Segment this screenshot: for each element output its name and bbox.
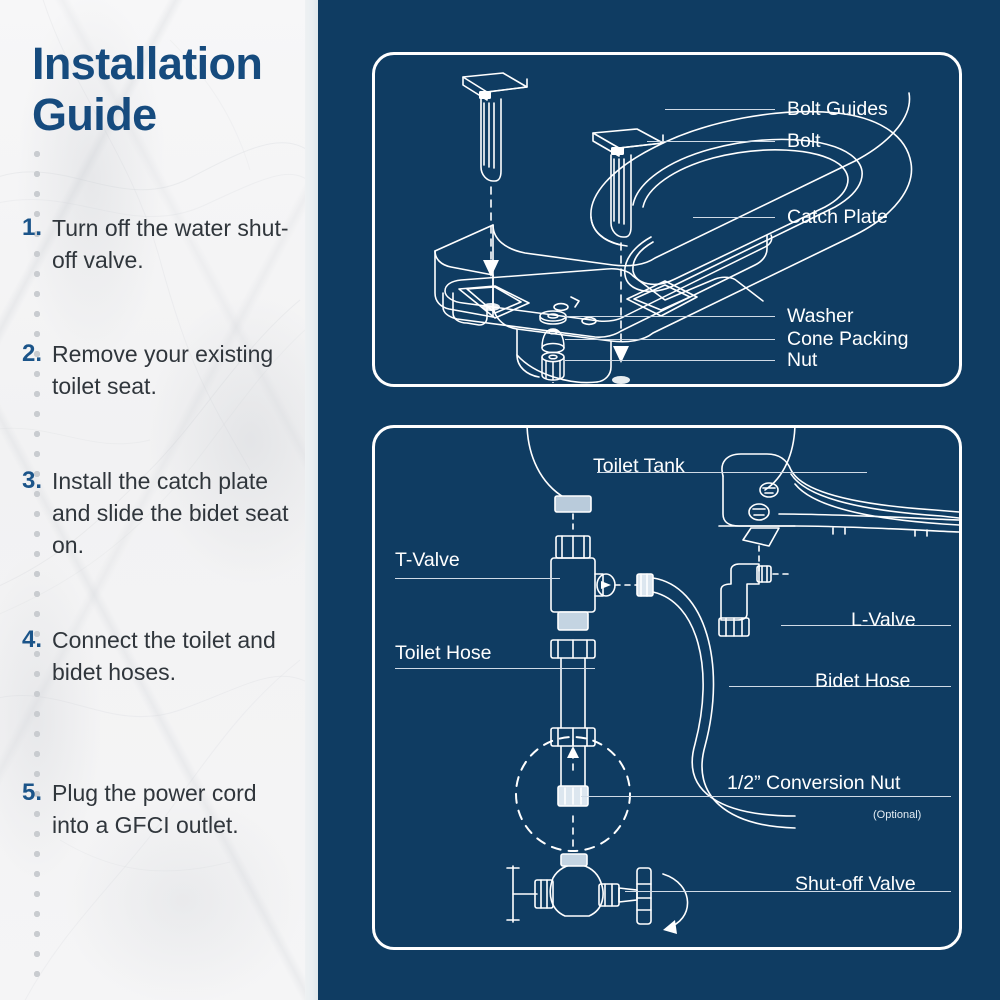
- step-number: 3.: [22, 465, 52, 497]
- leader-catch-plate: [693, 217, 775, 218]
- step-text: Connect the toilet and bidet hoses.: [52, 624, 292, 688]
- label-toilet-tank: Toilet Tank: [593, 454, 685, 478]
- label-bidet-hose: Bidet Hose: [815, 669, 910, 693]
- step-item-3: 3. Install the catch plate and slide the…: [22, 465, 297, 561]
- label-t-valve: T-Valve: [395, 548, 460, 572]
- step-number: 4.: [22, 624, 52, 656]
- leader-bolt: [647, 141, 775, 142]
- catch-plate-diagram-panel: Bolt Guides Bolt Catch Plate Washer Cone…: [372, 52, 962, 387]
- step-text: Install the catch plate and slide the bi…: [52, 465, 292, 561]
- step-text: Remove your existing toilet seat.: [52, 338, 292, 402]
- label-toilet-hose: Toilet Hose: [395, 641, 491, 665]
- panel-divider: [305, 0, 318, 1000]
- water-hookup-diagram-panel: Toilet Tank T-Valve L-Valve Toilet Hose …: [372, 425, 962, 950]
- page-title-line2: Guide: [32, 89, 302, 140]
- label-catch-plate: Catch Plate: [787, 205, 888, 229]
- label-conversion-nut: 1/2” Conversion Nut: [727, 771, 900, 795]
- step-number: 5.: [22, 777, 52, 809]
- marble-sidebar: Installation Guide 1. Turn off the water…: [0, 0, 305, 1000]
- label-nut: Nut: [787, 348, 817, 372]
- step-number: 1.: [22, 212, 52, 244]
- leader-conversion-nut: [581, 796, 951, 797]
- label-washer: Washer: [787, 304, 853, 328]
- leader-washer: [565, 316, 775, 317]
- page-title-line1: Installation: [32, 38, 302, 89]
- label-bolt: Bolt: [787, 129, 821, 153]
- leader-bolt-guides: [665, 109, 775, 110]
- label-shut-off-valve: Shut-off Valve: [795, 872, 916, 896]
- step-item-5: 5. Plug the power cord into a GFCI outle…: [22, 777, 297, 841]
- leader-nut: [565, 360, 775, 361]
- step-item-4: 4. Connect the toilet and bidet hoses.: [22, 624, 297, 688]
- step-text: Plug the power cord into a GFCI outlet.: [52, 777, 292, 841]
- step-number: 2.: [22, 338, 52, 370]
- label-l-valve: L-Valve: [851, 608, 916, 632]
- leader-toilet-hose: [395, 668, 595, 669]
- leader-t-valve: [395, 578, 560, 579]
- page-title: Installation Guide: [32, 38, 302, 140]
- label-bolt-guides: Bolt Guides: [787, 97, 888, 121]
- step-item-1: 1. Turn off the water shut-off valve.: [22, 212, 297, 276]
- installation-guide-page: Installation Guide 1. Turn off the water…: [0, 0, 1000, 1000]
- label-conversion-nut-note: (Optional): [873, 803, 921, 827]
- step-text: Turn off the water shut-off valve.: [52, 212, 292, 276]
- step-item-2: 2. Remove your existing toilet seat.: [22, 338, 297, 402]
- leader-cone-packing: [565, 339, 775, 340]
